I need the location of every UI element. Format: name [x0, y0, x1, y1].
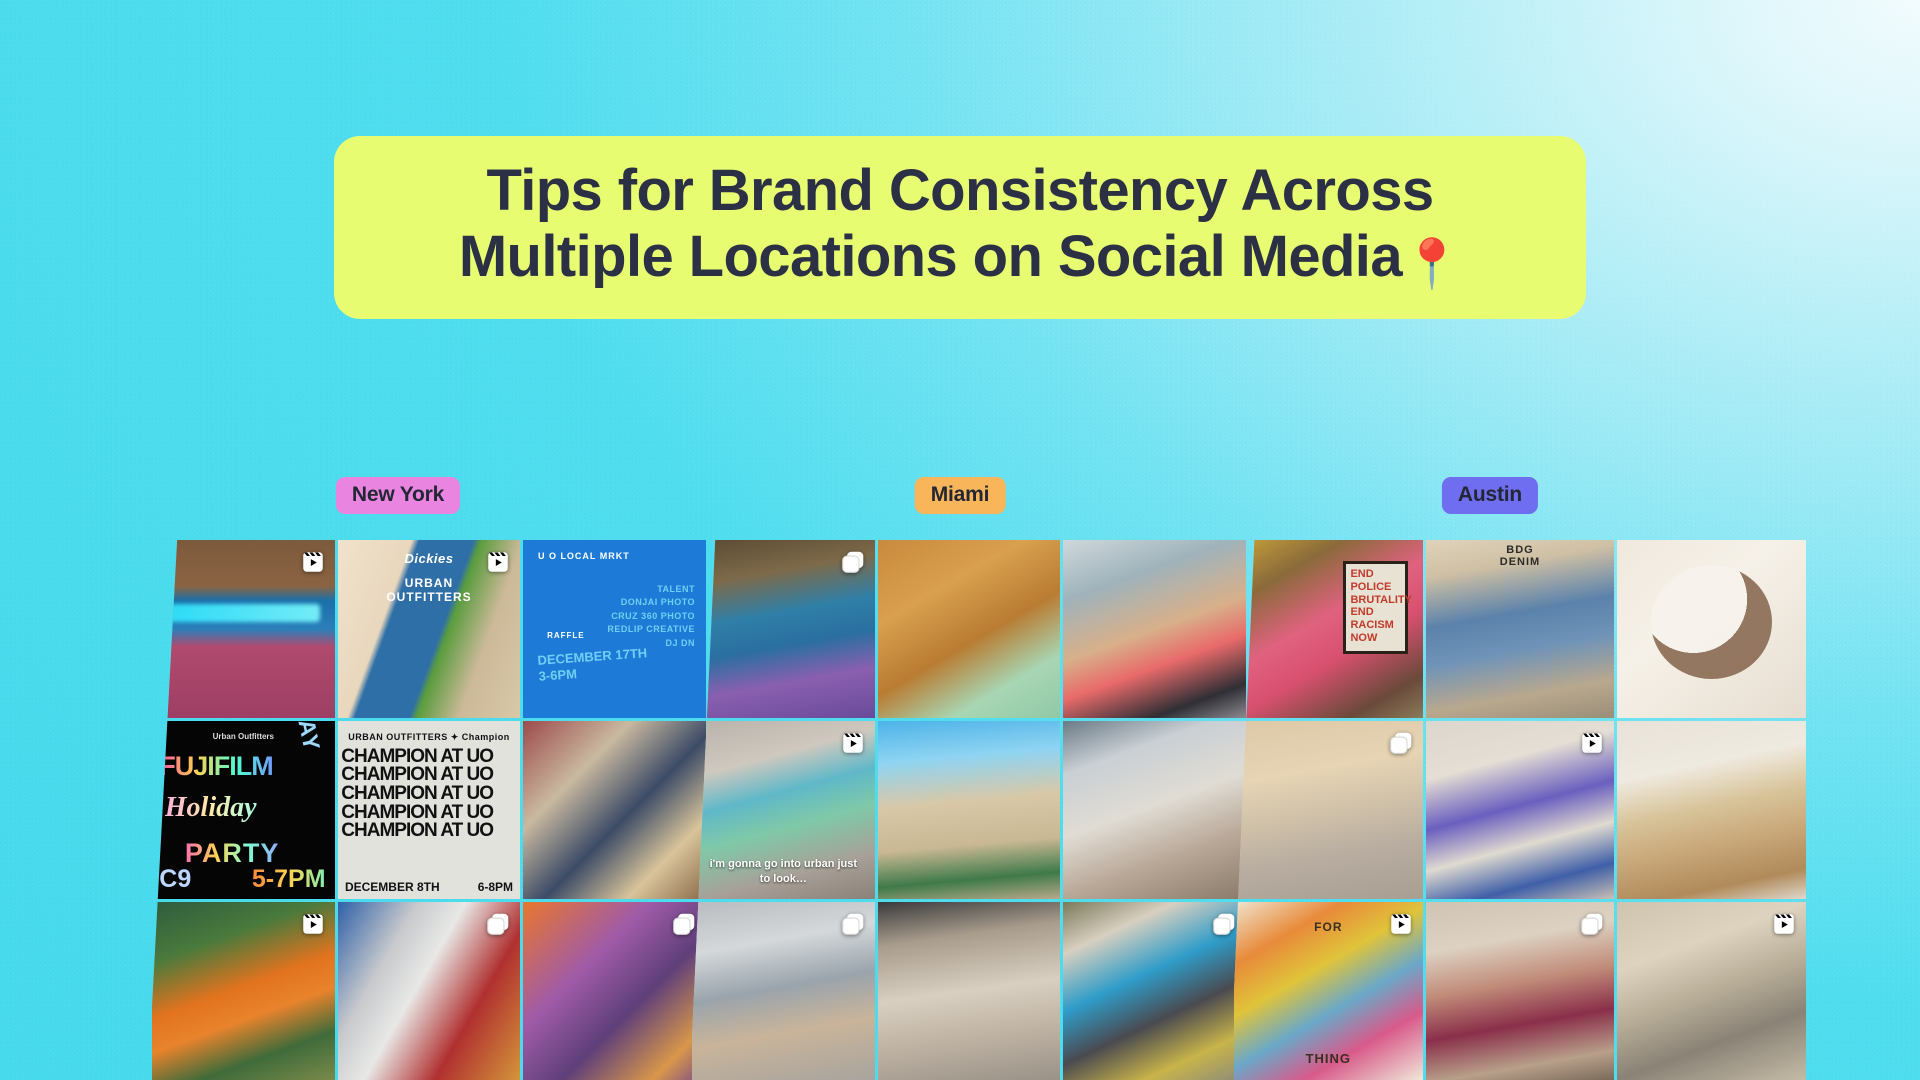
- reel-icon: [300, 911, 326, 937]
- grid-tile[interactable]: [338, 902, 521, 1080]
- city-label-austin[interactable]: Austin: [1442, 477, 1538, 514]
- grid-tile[interactable]: [1617, 902, 1806, 1080]
- tile-brand-text: Dickies: [404, 551, 453, 566]
- grid-tile[interactable]: [152, 902, 335, 1080]
- flyer-header-text: URBAN OUTFITTERS ✦ Champion: [338, 732, 521, 743]
- tile-image: [1063, 540, 1246, 718]
- grid-tile[interactable]: END POLICE BRUTALITY END RACISM NOW: [1234, 540, 1423, 718]
- grid-tile[interactable]: [523, 902, 706, 1080]
- grid-tile[interactable]: Dickies URBAN OUTFITTERS: [338, 540, 521, 718]
- tile-image: [878, 721, 1061, 899]
- tile-caption: i'm gonna go into urban just to look…: [703, 857, 864, 887]
- photo-grid-clip-new-york: Dickies URBAN OUTFITTERS U O LOCAL MRKT …: [148, 540, 708, 1080]
- reel-icon: [300, 549, 326, 575]
- flyer-time-text: 5-7PM: [252, 865, 326, 894]
- carousel-icon: [1388, 730, 1414, 756]
- grid-tile[interactable]: [878, 902, 1061, 1080]
- flyer-brand-text: Urban Outfitters: [213, 732, 274, 741]
- title-card: Tips for Brand Consistency Across Multip…: [334, 136, 1586, 319]
- grid-tile[interactable]: URBAN OUTFITTERS ✦ Champion CHAMPION AT …: [338, 721, 521, 899]
- grid-tile[interactable]: U O LOCAL MRKT TALENT DONJAI PHOTO CRUZ …: [523, 540, 706, 718]
- reel-icon: [840, 730, 866, 756]
- grid-tile[interactable]: [523, 721, 706, 899]
- carousel-icon: [485, 911, 511, 937]
- flyer-raffle-text: RAFFLE: [547, 631, 585, 640]
- reel-icon: [485, 549, 511, 575]
- reel-icon: [1388, 911, 1414, 937]
- tile-headline-text: URBAN OUTFITTERS: [386, 576, 471, 605]
- reel-icon: [1579, 730, 1605, 756]
- grid-tile[interactable]: [1063, 721, 1246, 899]
- grid-tile[interactable]: [878, 721, 1061, 899]
- tile-bottom-text: THING: [1234, 1051, 1423, 1066]
- page-title: Tips for Brand Consistency Across Multip…: [374, 158, 1546, 293]
- tile-image: [878, 902, 1061, 1080]
- grid-tile[interactable]: [1063, 540, 1246, 718]
- grid-tile[interactable]: [152, 540, 335, 718]
- tile-image: [523, 721, 706, 899]
- photo-grid-clip-austin: END POLICE BRUTALITY END RACISM NOW BDG …: [1230, 540, 1810, 1080]
- flyer-time-value: 6-8PM: [478, 880, 513, 894]
- grid-tile[interactable]: BDG DENIM: [1426, 540, 1615, 718]
- grid-tile[interactable]: i'm gonna go into urban just to look…: [692, 721, 875, 899]
- grid-tile[interactable]: [692, 540, 875, 718]
- grid-tile[interactable]: [1617, 540, 1806, 718]
- grid-tile[interactable]: [1063, 902, 1246, 1080]
- grid-tile[interactable]: FOR THING: [1234, 902, 1423, 1080]
- tile-image: [1617, 721, 1806, 899]
- flyer-time-value: 3-6PM: [538, 666, 577, 684]
- grid-tile[interactable]: [1426, 721, 1615, 899]
- tile-sign-text: BDG DENIM: [1500, 545, 1540, 568]
- flyer-repeat-text: CHAMPION AT UO CHAMPION AT UO CHAMPION A…: [341, 748, 516, 841]
- photo-grid-clip-miami: i'm gonna go into urban just to look…: [690, 540, 1250, 1080]
- carousel-icon: [1579, 911, 1605, 937]
- tile-image: [878, 540, 1061, 718]
- page-title-text: Tips for Brand Consistency Across Multip…: [459, 158, 1434, 289]
- tile-poster-text: END POLICE BRUTALITY END RACISM NOW: [1343, 561, 1407, 654]
- flyer-footer: DECEMBER 8TH 6-8PM: [345, 880, 513, 894]
- grid-tile[interactable]: [1234, 721, 1423, 899]
- grid-tile[interactable]: [692, 902, 875, 1080]
- flyer-lineup-text: TALENT DONJAI PHOTO CRUZ 360 PHOTO REDLI…: [523, 583, 695, 651]
- instagram-grid-austin: END POLICE BRUTALITY END RACISM NOW BDG …: [1234, 540, 1806, 1080]
- instagram-grid-new-york: Dickies URBAN OUTFITTERS U O LOCAL MRKT …: [152, 540, 706, 1080]
- grid-tile[interactable]: [878, 540, 1061, 718]
- grid-tile[interactable]: Urban Outfitters FUJIFILM FRIDAY Holiday…: [152, 721, 335, 899]
- instagram-grid-miami: i'm gonna go into urban just to look…: [692, 540, 1246, 1080]
- tile-image: [1617, 540, 1806, 718]
- city-label-miami[interactable]: Miami: [915, 477, 1006, 514]
- reel-icon: [1771, 911, 1797, 937]
- tile-image: [1063, 721, 1246, 899]
- grid-tile[interactable]: [1426, 902, 1615, 1080]
- grid-tile[interactable]: [1617, 721, 1806, 899]
- flyer-venue-text: C9: [159, 865, 191, 894]
- flyer-logo-text: U O LOCAL MRKT: [538, 551, 630, 561]
- flyer-title-text: FUJIFILM: [159, 751, 273, 782]
- location-pin-icon: 📍: [1402, 238, 1461, 291]
- carousel-icon: [840, 549, 866, 575]
- city-label-new-york[interactable]: New York: [336, 477, 460, 514]
- carousel-icon: [840, 911, 866, 937]
- flyer-date-value: DECEMBER 8TH: [345, 880, 440, 894]
- flyer-script-text: Holiday: [165, 792, 257, 824]
